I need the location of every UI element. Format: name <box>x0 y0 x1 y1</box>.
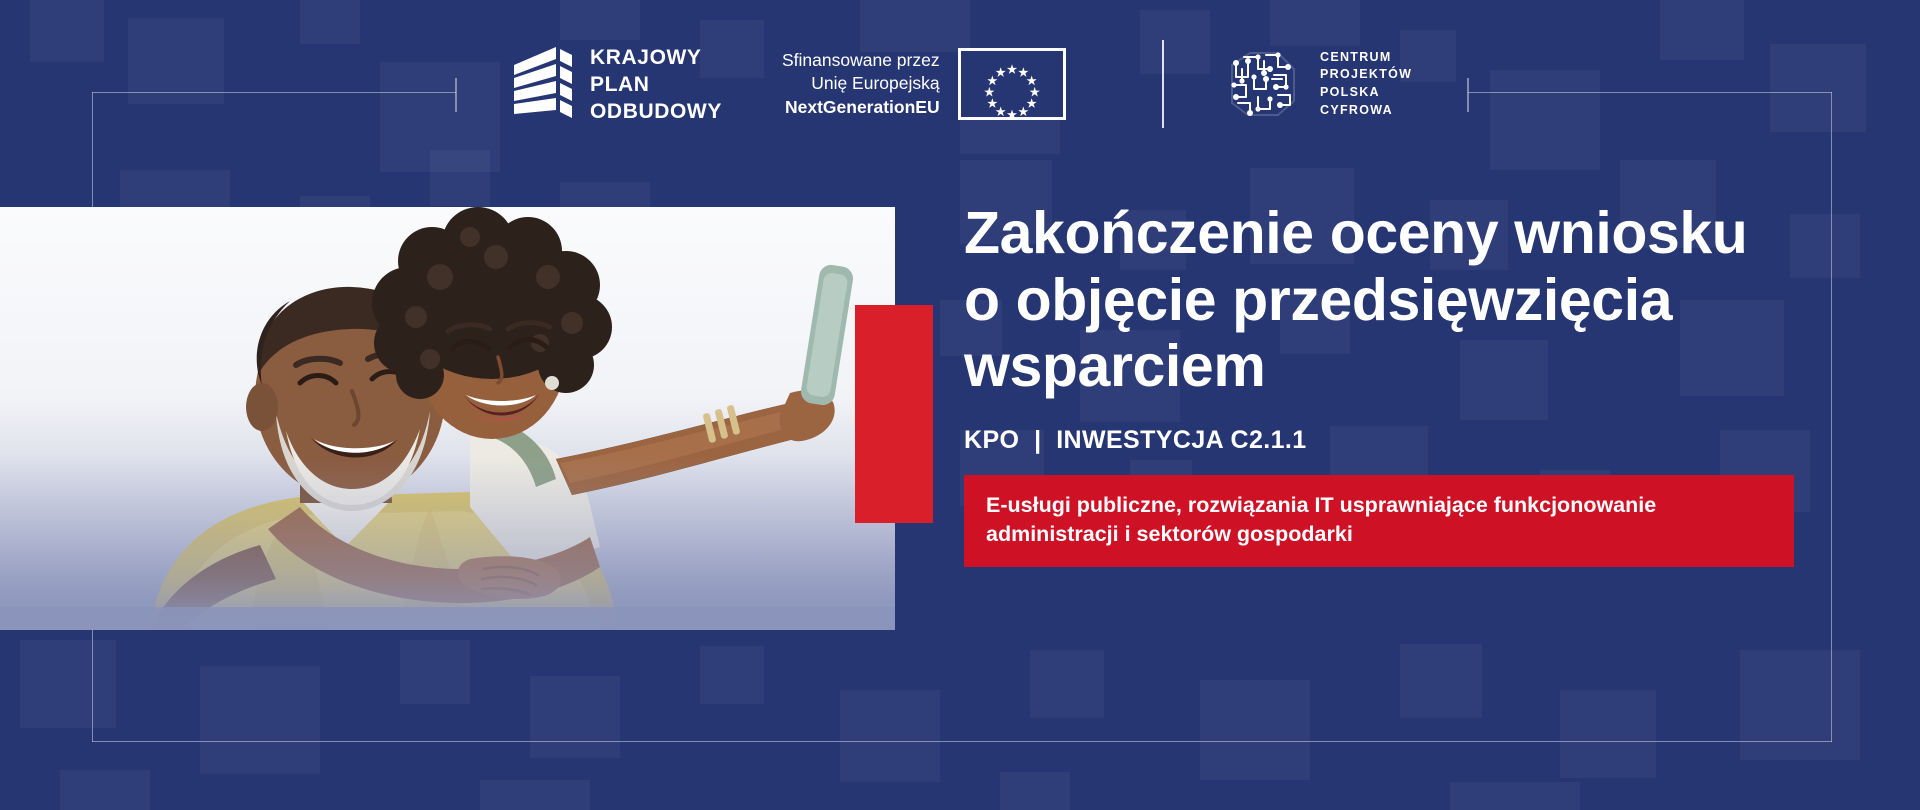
red-description-banner: E-usługi publiczne, rozwiązania IT uspra… <box>964 475 1794 567</box>
hero-photo <box>0 207 895 630</box>
eu-funding-logo: Sfinansowane przez Unię Europejską NextG… <box>782 48 1066 120</box>
headline-line-2: o objęcie przedsięwzięcia <box>964 267 1672 333</box>
page-title: Zakończenie oceny wniosku o objęcie prze… <box>964 200 1794 400</box>
kpo-building-icon <box>512 45 574 125</box>
cppc-line-4: CYFROWA <box>1320 102 1412 120</box>
program-investment-line: KPO | INWESTYCJA C2.1.1 <box>964 426 1794 455</box>
cppc-line-3: POLSKA <box>1320 84 1412 102</box>
kpo-line-1: KRAJOWY <box>590 45 722 72</box>
eu-line-2: Unię Europejską <box>782 72 940 95</box>
red-accent-block <box>855 305 933 523</box>
headline-line-1: Zakończenie oceny wniosku <box>964 200 1747 266</box>
red-banner-line-1: E-usługi publiczne, rozwiązania IT uspra… <box>986 493 1656 517</box>
cppc-logo: CENTRUM PROJEKTÓW POLSKA CYFROWA <box>1222 43 1412 125</box>
headline-line-3: wsparciem <box>964 333 1265 399</box>
eu-line-1: Sfinansowane przez <box>782 49 940 72</box>
kpo-logo: KRAJOWY PLAN ODBUDOWY <box>512 45 722 126</box>
investment-label: INWESTYCJA C2.1.1 <box>1056 426 1306 454</box>
kpo-line-2: PLAN <box>590 72 722 99</box>
eu-line-3: NextGenerationEU <box>782 96 940 119</box>
cppc-line-2: PROJEKTÓW <box>1320 66 1412 84</box>
couple-selfie-photo <box>0 207 895 630</box>
kpo-line-3: ODBUDOWY <box>590 99 722 126</box>
poland-circuit-map-icon <box>1222 43 1304 125</box>
banner-root: KRAJOWY PLAN ODBUDOWY Sfinansowane przez… <box>0 0 1920 810</box>
main-content: Zakończenie oceny wniosku o objęcie prze… <box>964 200 1794 567</box>
red-banner-line-2: administracji i sektorów gospodarki <box>986 522 1353 546</box>
eu-stars-icon <box>961 51 1063 119</box>
logo-header: KRAJOWY PLAN ODBUDOWY Sfinansowane przez… <box>0 0 1920 165</box>
logo-divider <box>1162 40 1164 128</box>
program-separator: | <box>1034 426 1041 454</box>
cppc-line-1: CENTRUM <box>1320 49 1412 67</box>
eu-flag-icon <box>958 48 1066 120</box>
program-label: KPO <box>964 426 1019 454</box>
